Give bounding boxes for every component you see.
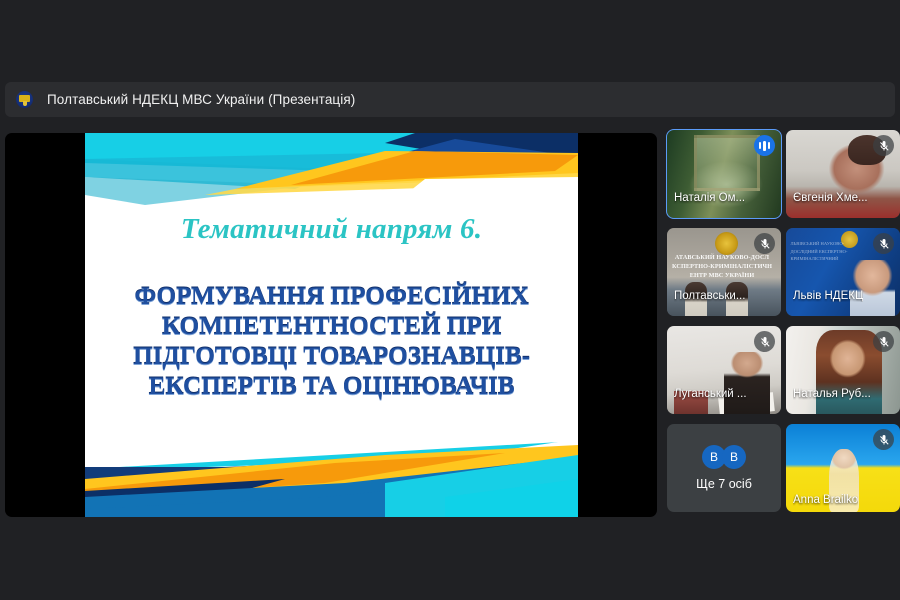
participant-name: Луганський ... <box>674 388 747 400</box>
presenter-header-bar[interactable]: Полтавський НДЕКЦ МВС України (Презентац… <box>5 82 895 117</box>
participant-tile-lviv[interactable]: ЛЬВІВСЬКИЙ НАУКОВО-ДОСЛІДНИЙ ЕКСПЕРТНО-К… <box>786 228 900 316</box>
participant-tile-natalia[interactable]: Наталія Ом... <box>667 130 781 218</box>
participant-name: Anna Brailko <box>793 494 858 506</box>
backdrop-banner-text: АТАВСЬКИЙ НАУКОВО-ДОСЛ КСПЕРТНО-КРИМІНАЛ… <box>667 254 781 281</box>
mic-muted-icon <box>754 331 775 352</box>
participant-name: Полтавськи... <box>674 290 745 302</box>
presenter-title: Полтавський НДЕКЦ МВС України (Презентац… <box>47 92 355 107</box>
participant-name: Наталія Ом... <box>674 192 745 204</box>
participant-tile-anna-brailko[interactable]: Anna Brailko <box>786 424 900 512</box>
mic-muted-icon <box>873 331 894 352</box>
participant-name: Євгенія Хме... <box>793 192 868 204</box>
presenter-avatar-icon <box>16 91 33 108</box>
mic-muted-icon <box>754 233 775 254</box>
participant-tile-poltava[interactable]: АТАВСЬКИЙ НАУКОВО-ДОСЛ КСПЕРТНО-КРИМІНАЛ… <box>667 228 781 316</box>
presentation-slide: Тематичний напрям 6. ФОРМУВАННЯ ПРОФЕСІЙ… <box>85 133 578 517</box>
participant-tile-natalya[interactable]: Наталья Руб... <box>786 326 900 414</box>
participant-name: Наталья Руб... <box>793 388 871 400</box>
participant-tile-lugansk[interactable]: Луганський ... <box>667 326 781 414</box>
slide-body-line: ЕКСПЕРТІВ ТА ОЦІНЮВАЧІВ <box>101 371 562 401</box>
slide-top-decoration <box>85 133 578 211</box>
speaking-indicator-icon <box>754 135 775 156</box>
slide-body-line: ФОРМУВАННЯ ПРОФЕСІЙНИХ <box>101 281 562 311</box>
backdrop-banner-text: ЛЬВІВСЬКИЙ НАУКОВО-ДОСЛІДНИЙ ЕКСПЕРТНО-К… <box>791 240 853 262</box>
slide-body: ФОРМУВАННЯ ПРОФЕСІЙНИХ КОМПЕТЕНТНОСТЕЙ П… <box>101 281 562 401</box>
avatar: В <box>722 445 746 469</box>
shared-screen-stage[interactable]: Тематичний напрям 6. ФОРМУВАННЯ ПРОФЕСІЙ… <box>5 133 657 517</box>
participant-name: Львів НДЕКЦ <box>793 290 863 302</box>
slide-title: Тематичний напрям 6. <box>85 213 578 246</box>
mic-muted-icon <box>873 233 894 254</box>
participant-filmstrip[interactable]: Наталія Ом... Євгенія Хме... АТАВСЬКИЙ Н… <box>667 130 900 522</box>
mic-muted-icon <box>873 135 894 156</box>
slide-body-line: КОМПЕТЕНТНОСТЕЙ ПРИ <box>101 311 562 341</box>
meeting-window: Полтавський НДЕКЦ МВС України (Презентац… <box>0 0 900 600</box>
participant-tile-evgenia[interactable]: Євгенія Хме... <box>786 130 900 218</box>
more-participants-label: Ще 7 осіб <box>696 477 752 491</box>
slide-body-line: ПІДГОТОВЦІ ТОВАРОЗНАВЦІВ- <box>101 341 562 371</box>
institution-emblem-icon <box>715 232 738 255</box>
more-participants-tile[interactable]: В В Ще 7 осіб <box>667 424 781 512</box>
slide-bottom-decoration <box>85 439 578 517</box>
overflow-avatar-group: В В <box>702 445 746 469</box>
person-silhouette <box>850 260 896 316</box>
mic-muted-icon <box>873 429 894 450</box>
